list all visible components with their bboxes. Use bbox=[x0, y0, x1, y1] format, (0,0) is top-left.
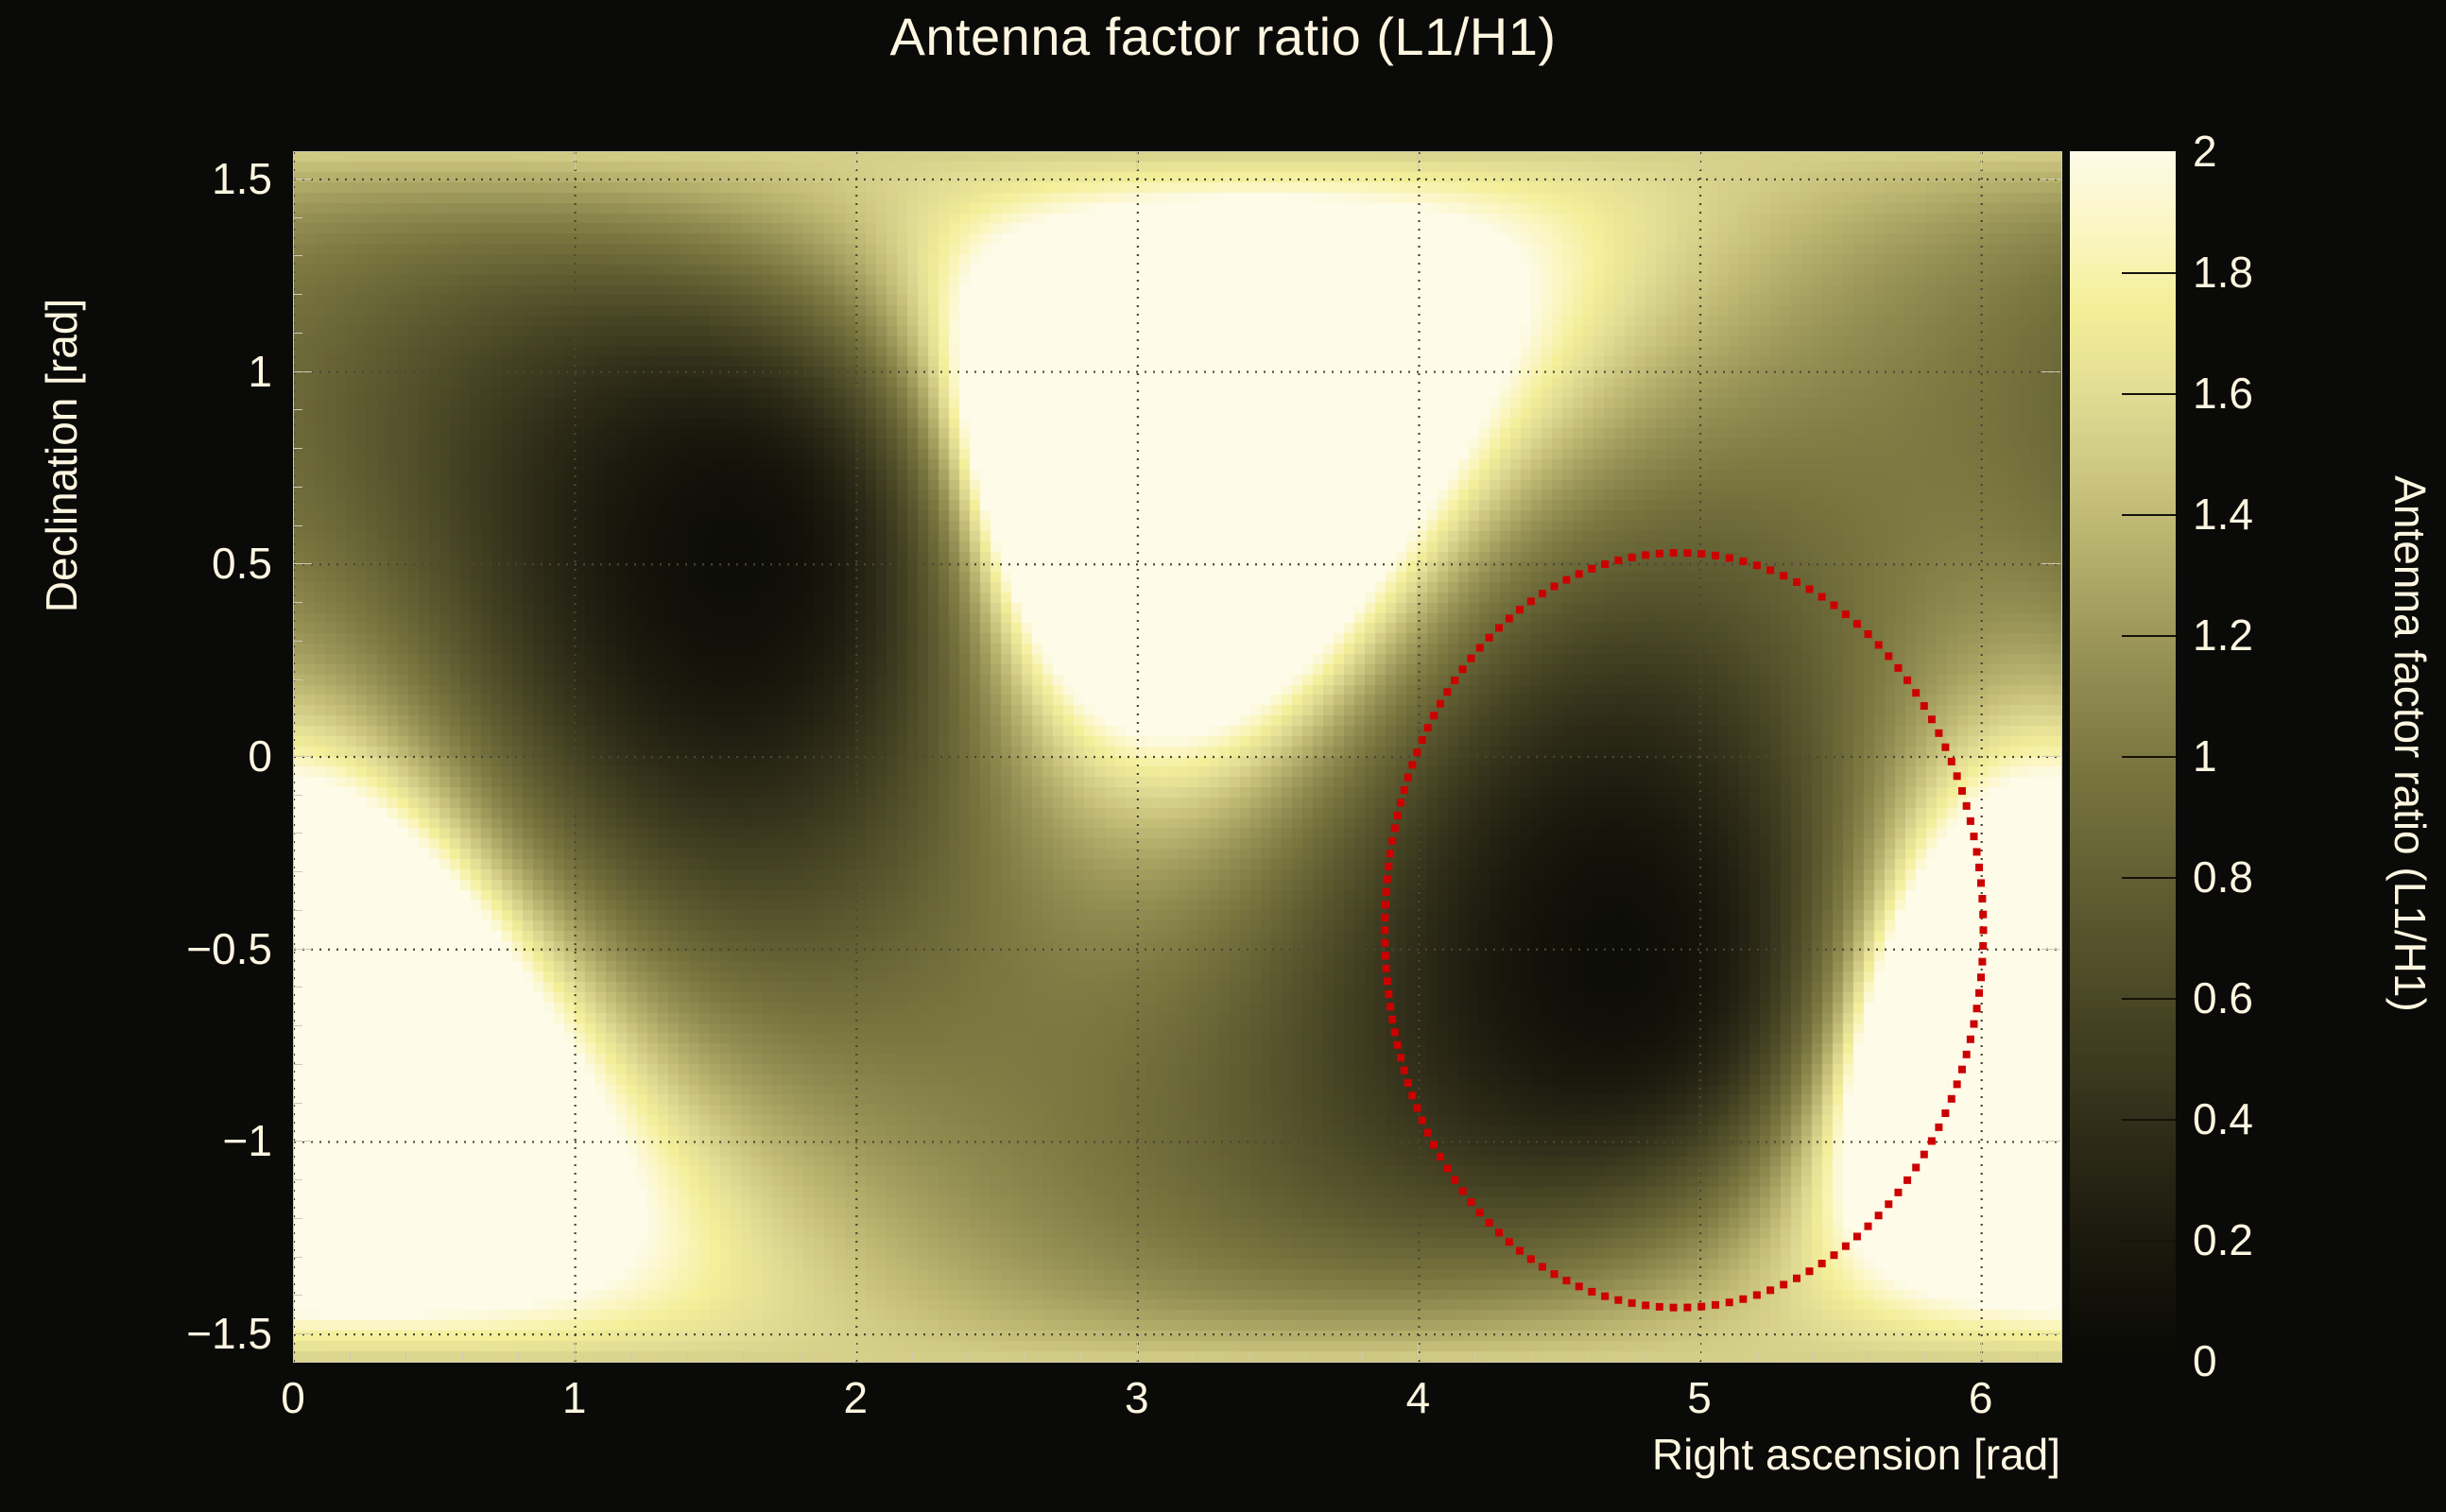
colorbar-tick-label: 1.8 bbox=[2193, 247, 2382, 298]
colorbar-gradient bbox=[2070, 151, 2176, 1361]
colorbar-tick-label: 0.4 bbox=[2193, 1093, 2382, 1144]
y-tick-label: 0 bbox=[83, 730, 272, 782]
colorbar-axis-title: Antenna factor ratio (L1/H1) bbox=[2385, 271, 2436, 1216]
colorbar-tick-label: 1.2 bbox=[2193, 610, 2382, 661]
y-axis-title: Declination [rad] bbox=[36, 77, 87, 833]
chart-title: Antenna factor ratio (L1/H1) bbox=[0, 6, 2446, 67]
x-axis-title: Right ascension [rad] bbox=[1115, 1429, 2060, 1480]
y-tick-label: −1 bbox=[83, 1115, 272, 1166]
sky-localisation-contour bbox=[294, 152, 2061, 1362]
colorbar-tick-label: 1.6 bbox=[2193, 368, 2382, 419]
chart-canvas: Antenna factor ratio (L1/H1) Declination… bbox=[0, 0, 2446, 1512]
colorbar bbox=[2070, 151, 2176, 1361]
colorbar-tick-label: 2 bbox=[2193, 126, 2382, 177]
colorbar-tick-label: 0.2 bbox=[2193, 1214, 2382, 1265]
x-tick-label: 2 bbox=[843, 1372, 868, 1423]
x-tick-label: 1 bbox=[562, 1372, 587, 1423]
y-tick-label: 1 bbox=[83, 346, 272, 397]
colorbar-tick-label: 0.6 bbox=[2193, 972, 2382, 1023]
colorbar-tick-label: 0 bbox=[2193, 1335, 2382, 1386]
x-tick-label: 4 bbox=[1406, 1372, 1431, 1423]
y-tick-label: 1.5 bbox=[83, 153, 272, 204]
x-tick-label: 6 bbox=[1969, 1372, 1993, 1423]
x-tick-label: 5 bbox=[1687, 1372, 1712, 1423]
x-tick-label: 3 bbox=[1125, 1372, 1149, 1423]
y-tick-label: −1.5 bbox=[83, 1308, 272, 1359]
colorbar-tick-label: 1 bbox=[2193, 730, 2382, 782]
plot-area bbox=[293, 151, 2062, 1363]
x-tick-label: 0 bbox=[281, 1372, 305, 1423]
colorbar-tick-label: 0.8 bbox=[2193, 851, 2382, 902]
y-tick-label: 0.5 bbox=[83, 538, 272, 589]
colorbar-tick-label: 1.4 bbox=[2193, 489, 2382, 540]
y-tick-label: −0.5 bbox=[83, 923, 272, 974]
